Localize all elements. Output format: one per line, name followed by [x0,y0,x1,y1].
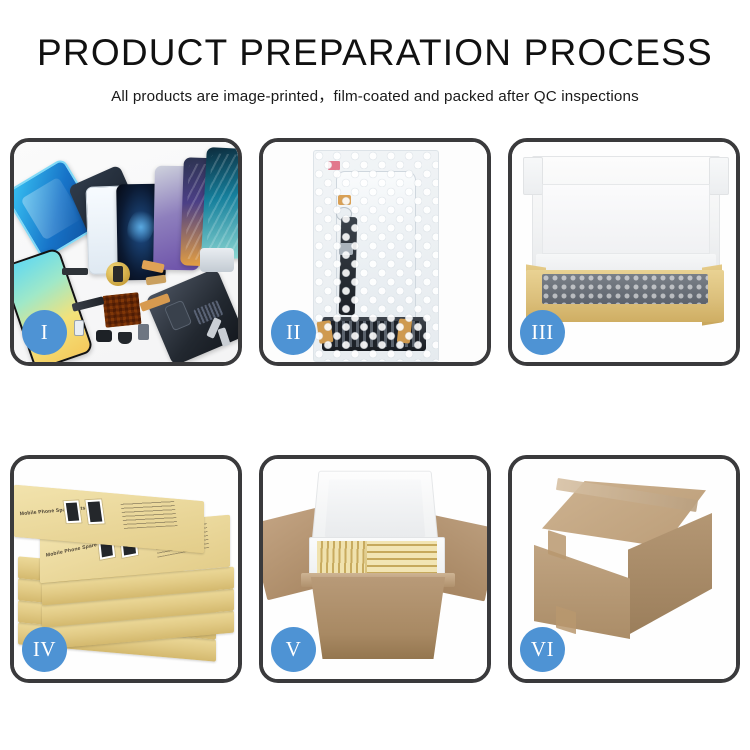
page-title: PRODUCT PREPARATION PROCESS [0,34,750,73]
chip-array-image [102,292,141,328]
header: PRODUCT PREPARATION PROCESS All products… [0,0,750,106]
part-image [62,268,88,275]
page-subtitle: All products are image-printed，film-coat… [0,84,750,106]
teal-phone-image [201,147,238,259]
carton-body-image [305,577,451,659]
pink-label-image [328,161,340,170]
process-step-3[interactable]: III [508,138,740,366]
gold-contact-image [397,318,412,343]
speaker-module-image [106,262,130,286]
process-step-5[interactable]: V [259,455,491,683]
step-badge-2: II [271,310,316,355]
ic-chip-image [339,243,353,255]
gold-contact-image [317,320,334,344]
process-step-6[interactable]: VI [508,455,740,683]
step-badge-1: I [22,310,67,355]
product-preparation-infographic: PRODUCT PREPARATION PROCESS All products… [0,0,750,750]
process-step-grid: I II [10,138,740,683]
box-screen-graphic [84,498,105,525]
flex-cable-image [339,217,358,315]
box-spec-lines [120,500,177,529]
process-step-1[interactable]: I [10,138,242,366]
part-image [96,330,112,342]
step-badge-5: V [271,627,316,672]
lid-face-image [542,184,710,254]
tool-image [200,248,234,272]
process-step-4[interactable]: Mobile Phone Spare Parts Mobile Phone Sp… [10,455,242,683]
part-image [74,320,84,336]
step-badge-6: VI [520,627,565,672]
bubble-wrap-bag-image [313,150,439,362]
bubble-wrapped-contents-image [542,274,708,304]
part-image [118,332,132,344]
gold-connector-image [338,195,351,205]
step-badge-4: IV [22,627,67,672]
box-screen-graphic [62,499,82,524]
process-step-2[interactable]: II [259,138,491,366]
step-badge-3: III [520,310,565,355]
part-image [138,324,149,340]
